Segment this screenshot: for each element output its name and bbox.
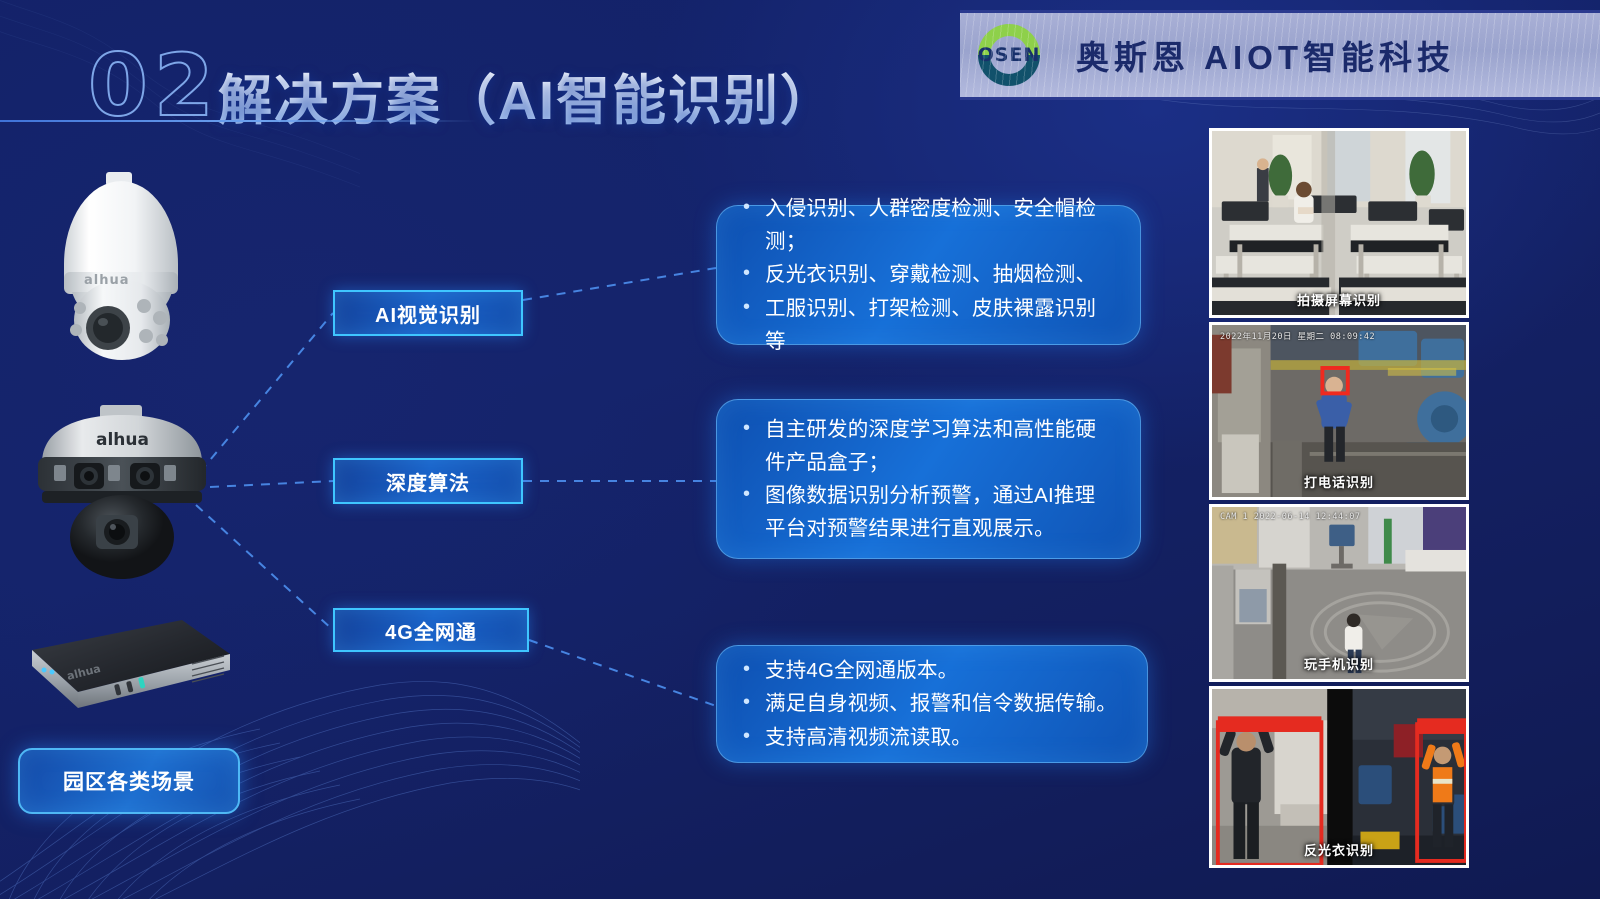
thumbnail-caption: 拍摄屏幕识别 (1212, 290, 1466, 309)
list-item: 图像数据识别分析预警，通过AI推理平台对预警结果进行直观展示。 (737, 479, 1114, 545)
thumbnail-phone-playing-detection[interactable]: CAM 1 2022-06-14 12:44:07 玩手机识别 (1209, 504, 1469, 682)
list-item: 反光衣识别、穿戴检测、抽烟检测、 (737, 258, 1114, 291)
list-item: 支持高清视频流读取。 (737, 721, 1121, 754)
chip-label: 深度算法 (386, 467, 470, 496)
bubble-ai-vision-features: 入侵识别、人群密度检测、安全帽检测； 反光衣识别、穿戴检测、抽烟检测、 工服识别… (716, 205, 1141, 345)
chip-label: AI视觉识别 (375, 299, 481, 328)
chip-label: 园区各类场景 (63, 766, 195, 796)
company-name: 奥斯恩 AIOT智能科技 (1076, 31, 1455, 79)
thumbnail-caption: 玩手机识别 (1212, 654, 1466, 673)
svg-text:alhua: alhua (84, 273, 130, 288)
list-item: 满足自身视频、报警和信令数据传输。 (737, 687, 1121, 720)
logo-wordmark: OSEN (978, 44, 1041, 66)
svg-text:alhua: alhua (96, 430, 149, 450)
feature-list: 支持4G全网通版本。 满足自身视频、报警和信令数据传输。 支持高清视频流读取。 (737, 654, 1121, 754)
list-item: 自主研发的深度学习算法和高性能硬件产品盒子； (737, 413, 1114, 479)
connector-chip3-to-bubble3 (529, 640, 716, 706)
person-seated (1294, 182, 1314, 223)
chip-deep-algorithm[interactable]: 深度算法 (333, 458, 523, 504)
osen-ring-logo-icon: OSEN (970, 16, 1048, 94)
thumbnail-timestamp: 2022年11月20日 星期二 08:09:42 (1220, 330, 1375, 342)
device-nvr-ai-box: alhua (10, 608, 235, 718)
bubble-4g-features: 支持4G全网通版本。 满足自身视频、报警和信令数据传输。 支持高清视频流读取。 (716, 645, 1148, 763)
list-item: 工服识别、打架检测、皮肤裸露识别等 (737, 292, 1114, 358)
chip-label: 4G全网通 (385, 616, 477, 645)
slide-header: 02 解决方案（AI智能识别） (0, 30, 900, 150)
page-title: 解决方案（AI智能识别） (218, 56, 836, 135)
connector-chip1-to-bubble1 (523, 268, 716, 300)
chip-4g-full-netcom[interactable]: 4G全网通 (333, 608, 529, 652)
office-cubicles-image (1212, 131, 1466, 317)
chip-park-scenarios[interactable]: 园区各类场景 (18, 748, 240, 814)
chip-ai-vision-recognition[interactable]: AI视觉识别 (333, 290, 523, 336)
device-ptz-dome-camera: alhua (20, 168, 225, 368)
thumbnail-caption: 打电话识别 (1212, 472, 1466, 491)
feature-list: 自主研发的深度学习算法和高性能硬件产品盒子； 图像数据识别分析预警，通过AI推理… (737, 413, 1114, 546)
thumbnail-phone-call-detection[interactable]: 2022年11月20日 星期二 08:09:42 打电话识别 (1209, 322, 1469, 500)
title-divider (0, 120, 478, 122)
list-item: 支持4G全网通版本。 (737, 654, 1121, 687)
person-standing (1257, 158, 1269, 201)
slide-canvas: 02 解决方案（AI智能识别） OSEN 奥斯恩 AIOT智能科技 (0, 0, 1600, 899)
detection-thumbnail-panel: 拍摄屏幕识别 (1209, 128, 1469, 872)
list-item: 入侵识别、人群密度检测、安全帽检测； (737, 192, 1114, 258)
thumbnail-screen-photo-detection[interactable]: 拍摄屏幕识别 (1209, 128, 1469, 318)
feature-list: 入侵识别、人群密度检测、安全帽检测； 反光衣识别、穿戴检测、抽烟检测、 工服识别… (737, 192, 1114, 358)
company-logo-bar: OSEN 奥斯恩 AIOT智能科技 (960, 10, 1600, 100)
thumbnail-timestamp: CAM 1 2022-06-14 12:44:07 (1220, 512, 1360, 522)
thumbnail-caption: 反光衣识别 (1212, 840, 1466, 859)
bubble-deep-algorithm-features: 自主研发的深度学习算法和高性能硬件产品盒子； 图像数据识别分析预警，通过AI推理… (716, 399, 1141, 559)
thumbnail-reflective-vest-detection[interactable]: 反光衣识别 (1209, 686, 1469, 868)
device-multisensor-ptz-camera: alhua (18, 395, 230, 580)
